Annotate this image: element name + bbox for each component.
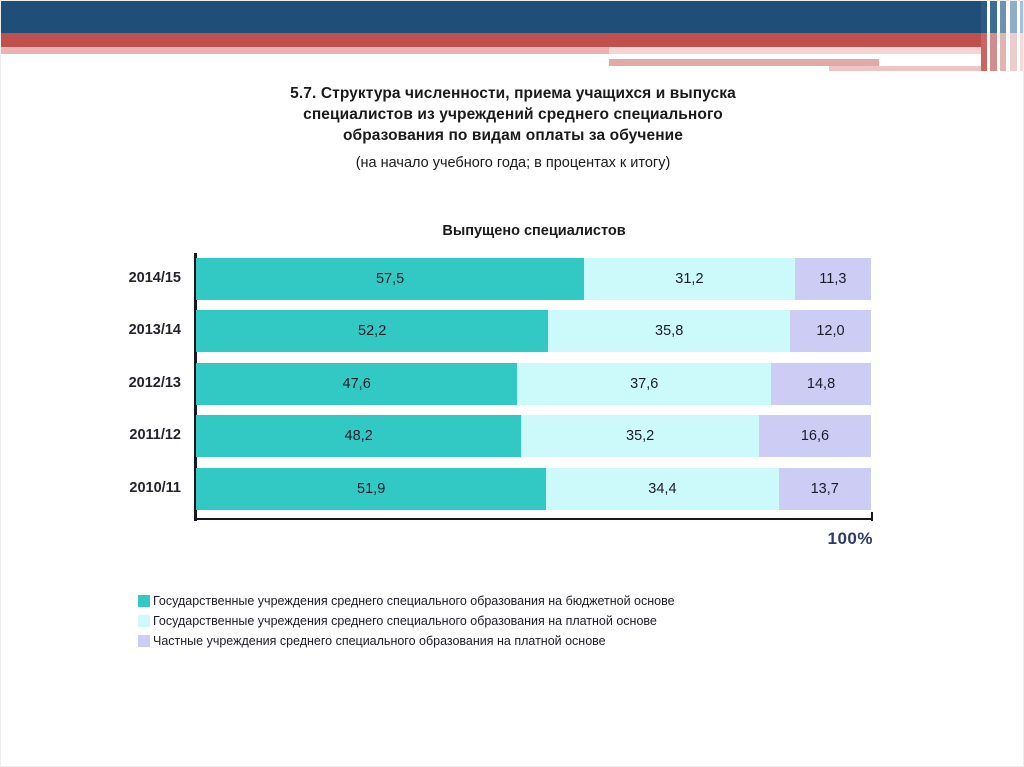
chart-bar-value-label: 35,8 (655, 323, 683, 339)
header-stripe-6 (1010, 1, 1017, 33)
header-stripe-2 (990, 1, 997, 33)
header-pink-band-1 (1, 47, 609, 54)
header-pink-band-2 (609, 47, 1024, 54)
chart-bar-value-label: 52,2 (358, 323, 386, 339)
chart-bar-value-label: 13,7 (811, 481, 839, 497)
chart-x-axis (194, 518, 873, 520)
chart-bar-value-label: 51,9 (357, 481, 385, 497)
chart-category-label-2012-13: 2012/13 (1, 375, 181, 391)
chart-bar-value-label: 34,4 (648, 481, 676, 497)
chart-bar-value-label: 48,2 (345, 428, 373, 444)
chart-x-axis-end-tick (871, 512, 873, 521)
header-blue-band (1, 1, 1024, 33)
legend-item-2[interactable]: Государственные учреждения среднего спец… (138, 611, 898, 630)
header-stripe-lower-8 (1020, 33, 1024, 71)
legend-label: Частные учреждения среднего специального… (153, 634, 606, 648)
legend-label: Государственные учреждения среднего спец… (153, 594, 675, 608)
chart-legend: Государственные учреждения среднего спец… (138, 591, 898, 651)
chart-bar-value-label: 31,2 (675, 271, 703, 287)
chart-bar-segment-series-3: 13,7 (779, 468, 871, 510)
page-title-line-2: специалистов из учреждений среднего спец… (151, 104, 875, 125)
header-stripe-8 (1020, 1, 1024, 33)
page-title-line-3: образования по видам оплаты за обучение (151, 125, 875, 146)
legend-swatch-icon-1 (138, 595, 150, 607)
chart-bar-segment-series-1: 47,6 (196, 363, 517, 405)
chart-bar-row: 57,531,211,3 (196, 258, 871, 300)
chart-bar-segment-series-1: 48,2 (196, 415, 521, 457)
chart-bar-segment-series-2: 35,2 (521, 415, 759, 457)
chart-bar-segment-series-3: 14,8 (771, 363, 871, 405)
chart-bar-segment-series-3: 12,0 (790, 310, 871, 352)
page-subtitle: (на начало учебного года; в процентах к … (151, 154, 875, 173)
chart-bar-segment-series-3: 11,3 (795, 258, 871, 300)
header-stripe-lower-6 (1010, 33, 1017, 71)
chart-bar-value-label: 14,8 (807, 376, 835, 392)
legend-item-1[interactable]: Государственные учреждения среднего спец… (138, 591, 898, 610)
chart-bar-segment-series-2: 35,8 (548, 310, 790, 352)
chart-bar-segment-series-1: 57,5 (196, 258, 584, 300)
chart-bar-value-label: 35,2 (626, 428, 654, 444)
chart-bar-row: 52,235,812,0 (196, 310, 871, 352)
header-pink-band-3 (609, 59, 879, 66)
header-stripe-lower-2 (990, 33, 997, 71)
page-title: 5.7. Структура численности, приема учащи… (151, 83, 875, 173)
chart-axis-max-label: 100% (781, 529, 873, 549)
chart-bar-value-label: 57,5 (376, 271, 404, 287)
legend-swatch-icon-3 (138, 635, 150, 647)
chart-bar-segment-series-3: 16,6 (759, 415, 871, 457)
chart-bar-segment-series-2: 34,4 (546, 468, 778, 510)
chart-bar-row: 51,934,413,7 (196, 468, 871, 510)
chart-title: Выпущено специалистов (194, 223, 874, 239)
chart-category-label-2010-11: 2010/11 (1, 480, 181, 496)
chart-bar-value-label: 11,3 (819, 271, 846, 287)
page-title-line-1: 5.7. Структура численности, приема учащи… (151, 83, 875, 104)
legend-label: Государственные учреждения среднего спец… (153, 614, 657, 628)
chart-bar-segment-series-1: 51,9 (196, 468, 546, 510)
legend-swatch-icon-2 (138, 615, 150, 627)
legend-item-3[interactable]: Частные учреждения среднего специального… (138, 631, 898, 650)
header-red-band (1, 33, 1024, 47)
slide-canvas: 5.7. Структура численности, приема учащи… (0, 0, 1024, 767)
chart-bar-value-label: 37,6 (630, 376, 658, 392)
chart-bar-value-label: 12,0 (816, 323, 844, 339)
chart-plot-area: 57,531,211,352,235,812,047,637,614,848,2… (194, 256, 871, 518)
decorative-header-band (1, 1, 1024, 71)
chart-bar-row: 47,637,614,8 (196, 363, 871, 405)
chart-category-label-2014-15: 2014/15 (1, 270, 181, 286)
chart-bar-segment-series-2: 37,6 (517, 363, 771, 405)
chart-bar-row: 48,235,216,6 (196, 415, 871, 457)
chart-category-label-2013-14: 2013/14 (1, 322, 181, 338)
chart-category-label-2011-12: 2011/12 (1, 427, 181, 443)
chart-bar-value-label: 16,6 (801, 428, 829, 444)
chart-bar-value-label: 47,6 (343, 376, 371, 392)
chart-bar-segment-series-1: 52,2 (196, 310, 548, 352)
chart-bar-segment-series-2: 31,2 (584, 258, 795, 300)
